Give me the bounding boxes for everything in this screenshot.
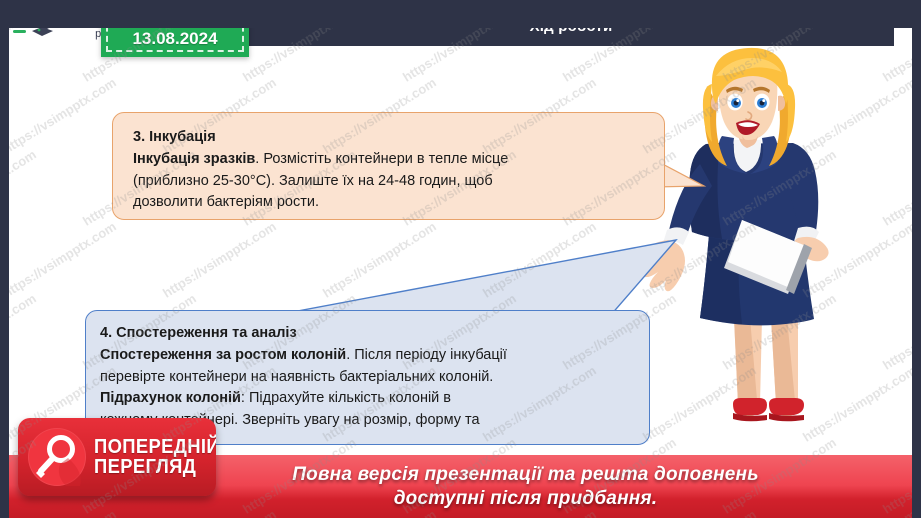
bubble-heading: 4. Спостереження та аналіз	[100, 323, 631, 345]
bubble-line: (приблизно 25-30°C). Залиште їх на 24-48…	[133, 171, 644, 193]
slide-left-frame	[0, 0, 9, 518]
banner-line-2: доступні після придбання.	[292, 487, 758, 510]
slide-top-frame	[0, 0, 921, 28]
bubble-line: дозволити бактеріям рости.	[133, 192, 644, 214]
bubble-incubation: 3. Інкубація Інкубація зразків. Розмісті…	[112, 112, 665, 220]
bubble-line: перевірте контейнери на наявність бактер…	[100, 367, 631, 389]
slide-root: 3. Інкубація Інкубація зразків. Розмісті…	[0, 0, 921, 518]
bubble-line: Інкубація зразків. Розмістіть контейнери…	[133, 149, 644, 171]
bubble-line: Спостереження за ростом колоній. Після п…	[100, 345, 631, 367]
magnifier-icon	[28, 428, 86, 486]
preview-badge[interactable]: ПОПЕРЕДНІЙ ПЕРЕГЛЯД	[18, 418, 216, 496]
banner-line-1: Повна версія презентації та решта доповн…	[292, 463, 758, 486]
bubble-heading: 3. Інкубація	[133, 127, 644, 149]
preview-badge-line-2: ПЕРЕГЛЯД	[94, 457, 216, 477]
date-badge-value: 13.08.2024	[132, 28, 217, 51]
preview-badge-line-1: ПОПЕРЕДНІЙ	[94, 437, 216, 457]
slide-right-frame	[912, 0, 921, 518]
bubble-line: Підрахунок колоній: Підрахуйте кількість…	[100, 388, 631, 410]
